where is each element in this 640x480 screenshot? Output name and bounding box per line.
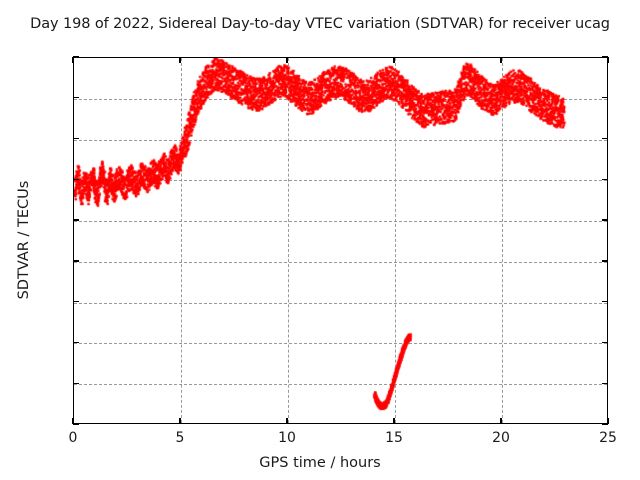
y-axis-tick xyxy=(73,301,79,302)
chart-root: Day 198 of 2022, Sidereal Day-to-day VTE… xyxy=(0,0,640,480)
y-axis-tick xyxy=(602,301,608,302)
x-axis-tick xyxy=(179,57,180,63)
y-axis-tick xyxy=(73,260,79,261)
scatter-data-layer xyxy=(74,58,607,423)
y-axis-tick xyxy=(602,219,608,220)
x-axis-tick xyxy=(286,418,287,424)
y-axis-tick xyxy=(73,97,79,98)
x-axis-tick xyxy=(179,418,180,424)
x-axis-tick xyxy=(72,418,73,424)
x-tick-label: 5 xyxy=(176,430,185,446)
x-axis-tick xyxy=(500,418,501,424)
y-axis-tick xyxy=(73,423,79,424)
x-axis-tick xyxy=(72,57,73,63)
x-axis-tick xyxy=(607,57,608,63)
y-axis-tick xyxy=(73,383,79,384)
x-axis-tick xyxy=(500,57,501,63)
x-axis-tick xyxy=(393,57,394,63)
chart-title: Day 198 of 2022, Sidereal Day-to-day VTE… xyxy=(0,16,640,32)
x-axis-tick xyxy=(393,418,394,424)
x-tick-label: 20 xyxy=(492,430,510,446)
x-axis-tick xyxy=(607,418,608,424)
x-axis-label: GPS time / hours xyxy=(0,455,640,471)
x-tick-label: 10 xyxy=(278,430,296,446)
y-axis-tick xyxy=(602,179,608,180)
y-axis-tick xyxy=(602,383,608,384)
y-axis-tick xyxy=(73,342,79,343)
x-axis-tick xyxy=(286,57,287,63)
y-axis-tick xyxy=(602,260,608,261)
y-axis-tick xyxy=(602,138,608,139)
y-axis-tick xyxy=(602,97,608,98)
y-axis-tick xyxy=(73,179,79,180)
y-axis-tick xyxy=(602,342,608,343)
x-tick-label: 0 xyxy=(69,430,78,446)
y-axis-tick xyxy=(73,219,79,220)
x-tick-label: 25 xyxy=(599,430,617,446)
plot-area xyxy=(73,57,608,424)
y-axis-label: SDTVAR / TECUs xyxy=(16,120,32,360)
y-axis-tick xyxy=(73,56,79,57)
x-tick-label: 15 xyxy=(385,430,403,446)
y-axis-tick xyxy=(73,138,79,139)
